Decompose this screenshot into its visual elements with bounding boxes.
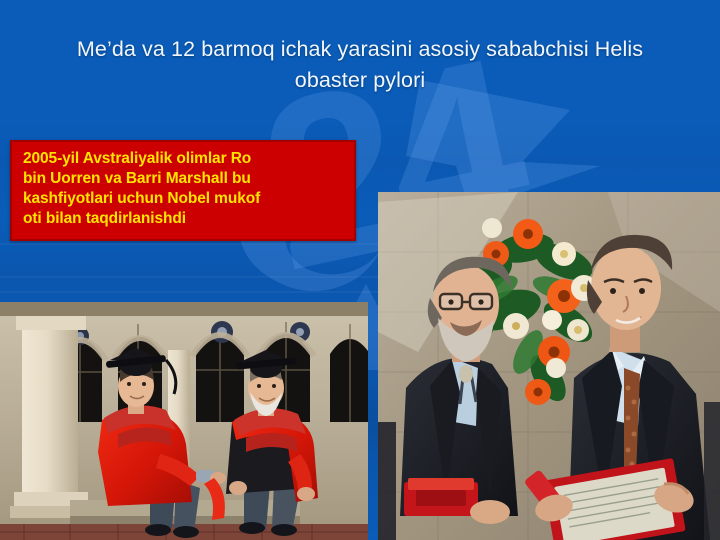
- nobel-photo-image: [378, 192, 720, 540]
- title-line-2: obaster pylori: [26, 65, 694, 96]
- graduation-photo-image: [0, 302, 368, 540]
- title-line-1: Me’da va 12 barmoq ichak yarasini asosiy…: [26, 34, 694, 65]
- nobel-award-photo: [378, 192, 720, 540]
- graduation-ceremony-photo: [0, 302, 368, 540]
- page-title: Me’da va 12 barmoq ichak yarasini asosiy…: [26, 34, 694, 95]
- caption-box: 2005-yil Avstraliyalik olimlar Ro bin Uo…: [10, 140, 356, 241]
- presentation-slide: 24 Me’da va 12 barmoq ichak yarasini aso…: [0, 0, 720, 540]
- caption-text: 2005-yil Avstraliyalik olimlar Ro bin Uo…: [23, 149, 345, 230]
